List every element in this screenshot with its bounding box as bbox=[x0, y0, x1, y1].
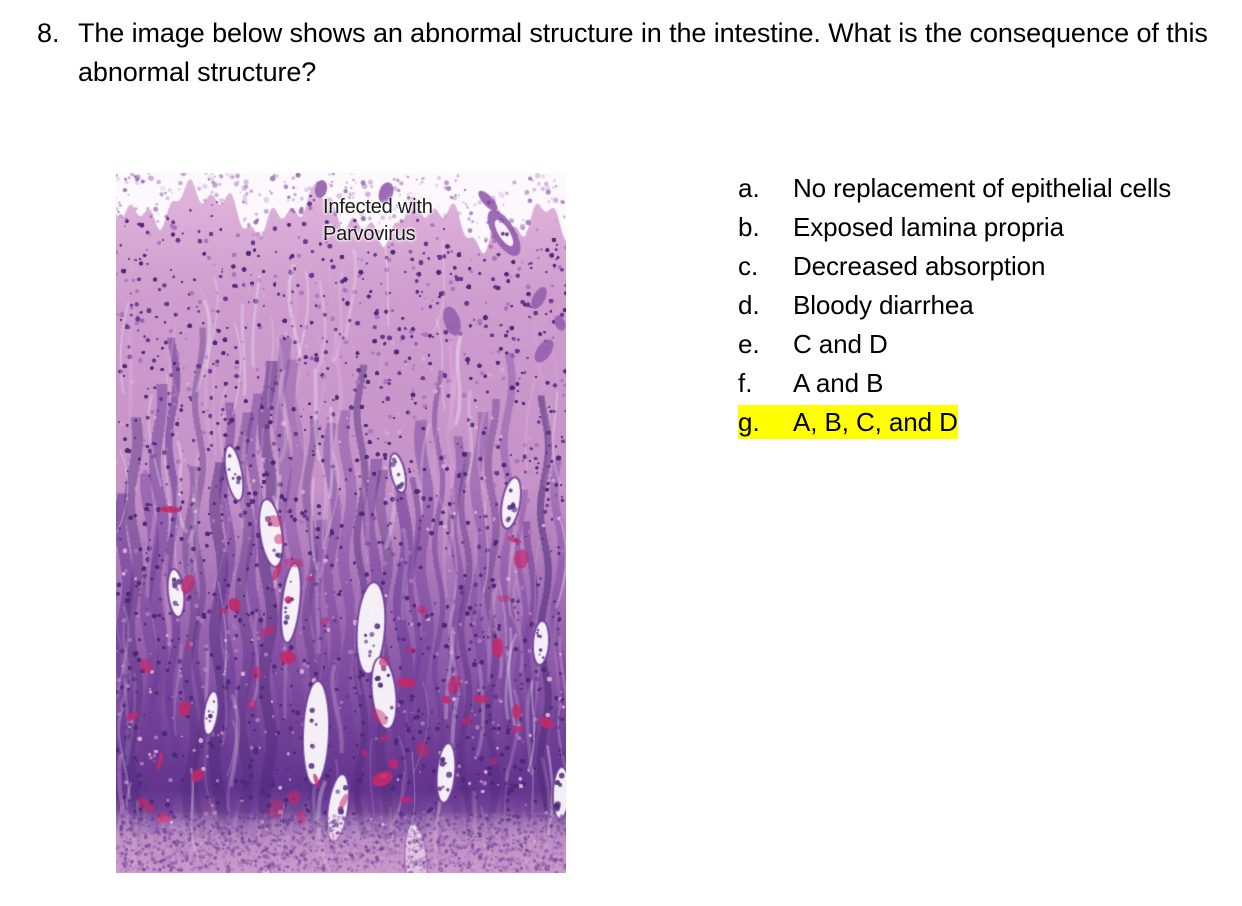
intestinal-histology-figure: Infected with Parvovirus bbox=[116, 173, 566, 873]
option-row-e[interactable]: e. C and D bbox=[738, 327, 1228, 366]
option-label-f: A and B bbox=[793, 366, 883, 400]
option-letter-e: e. bbox=[738, 327, 793, 361]
option-letter-b: b. bbox=[738, 210, 793, 244]
option-row-d[interactable]: d. Bloody diarrhea bbox=[738, 288, 1228, 327]
option-row-g[interactable]: g. A, B, C, and D bbox=[738, 405, 1228, 444]
option-row-a[interactable]: a. No replacement of epithelial cells bbox=[738, 171, 1228, 210]
question-block: 8. The image below shows an abnormal str… bbox=[30, 14, 1235, 92]
option-row-c[interactable]: c. Decreased absorption bbox=[738, 249, 1228, 288]
option-label-b: Exposed lamina propria bbox=[793, 210, 1064, 244]
answer-options-list: a. No replacement of epithelial cells b.… bbox=[738, 171, 1228, 444]
option-letter-g: g. bbox=[738, 405, 793, 439]
question-number: 8. bbox=[30, 14, 78, 53]
option-letter-a: a. bbox=[738, 171, 793, 205]
option-label-e: C and D bbox=[793, 327, 888, 361]
option-letter-f: f. bbox=[738, 366, 793, 400]
option-label-c: Decreased absorption bbox=[793, 249, 1045, 283]
question-row: 8. The image below shows an abnormal str… bbox=[30, 14, 1235, 92]
option-row-f[interactable]: f. A and B bbox=[738, 366, 1228, 405]
option-letter-d: d. bbox=[738, 288, 793, 322]
option-label-a: No replacement of epithelial cells bbox=[793, 171, 1171, 205]
option-letter-c: c. bbox=[738, 249, 793, 283]
option-row-b[interactable]: b. Exposed lamina propria bbox=[738, 210, 1228, 249]
option-label-g: A, B, C, and D bbox=[793, 405, 958, 439]
option-label-d: Bloody diarrhea bbox=[793, 288, 974, 322]
page-title: The image below shows an abnormal struct… bbox=[78, 14, 1235, 92]
histology-micrograph-image bbox=[116, 173, 566, 873]
